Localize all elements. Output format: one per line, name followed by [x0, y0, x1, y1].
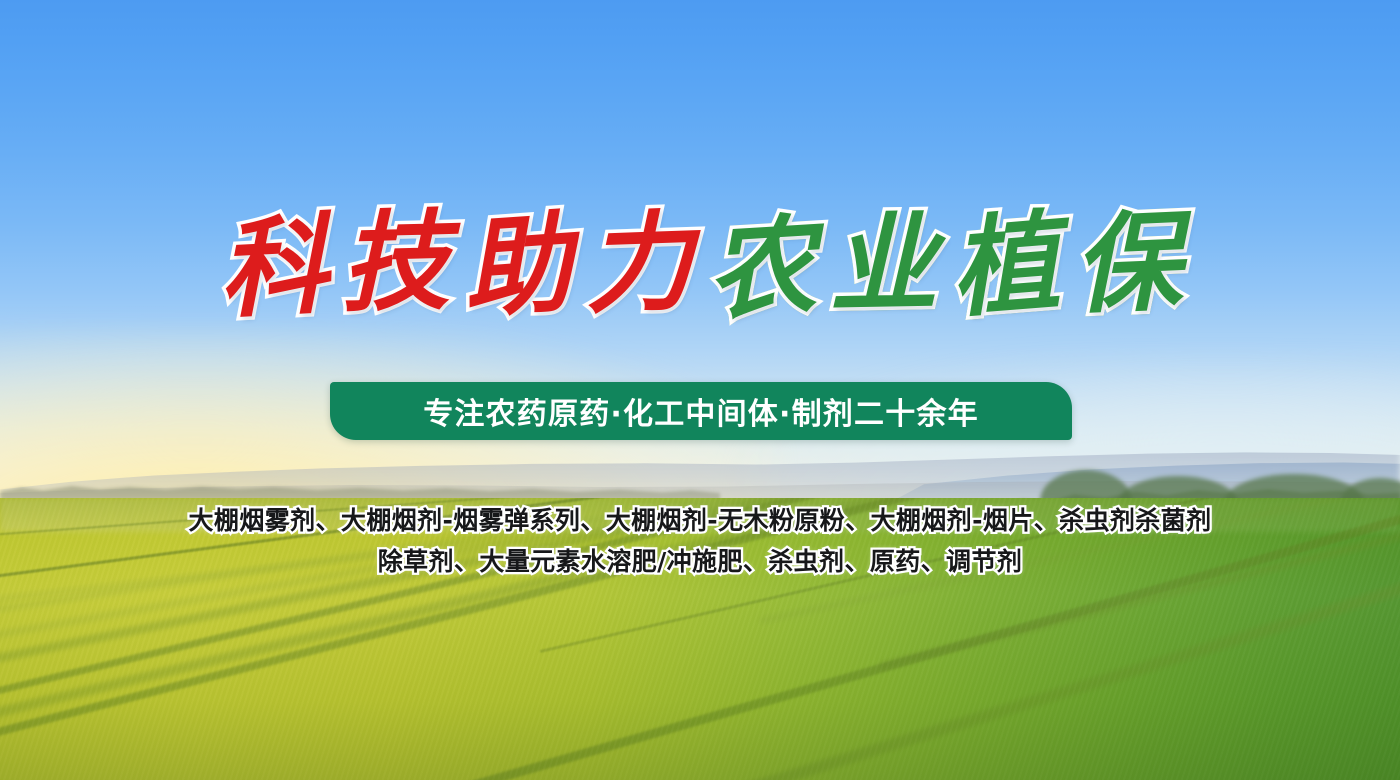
farm-field	[0, 498, 1400, 780]
subtitle-text: 专注农药原药·化工中间体·制剂二十余年	[423, 389, 979, 433]
agriculture-promo-banner: 科技助力农业植保 专注农药原药·化工中间体·制剂二十余年 大棚烟雾剂、大棚烟剂-…	[0, 0, 1400, 780]
field-depth-shading	[0, 498, 1400, 780]
subtitle-banner-bar: 专注农药原药·化工中间体·制剂二十余年	[330, 382, 1072, 440]
